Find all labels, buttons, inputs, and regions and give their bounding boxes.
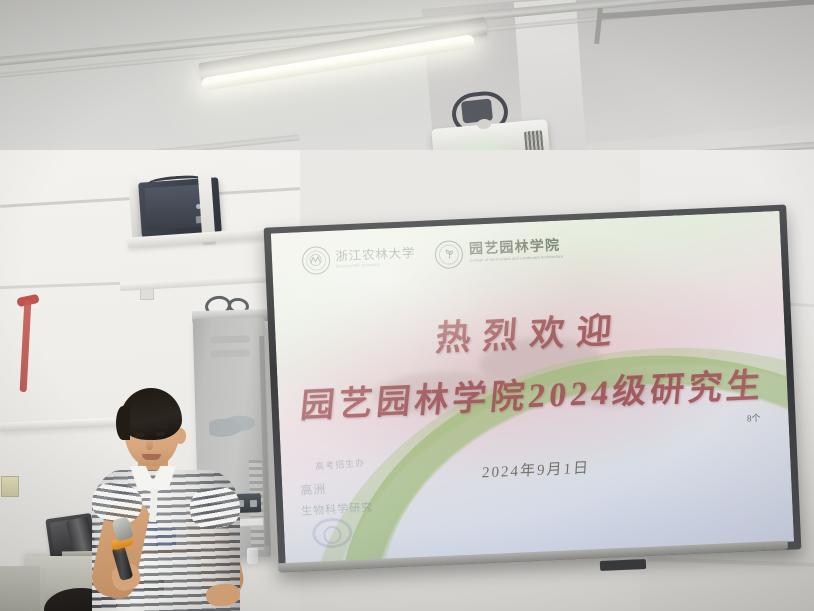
ghost-mark: 高洲 <box>300 480 327 499</box>
ghost-stamp-icon <box>312 517 353 549</box>
mouth <box>142 454 161 460</box>
wall-socket-icon <box>1 476 19 497</box>
screen-mount-foot <box>600 559 646 571</box>
slide-corner-mark: 8个 <box>747 410 761 424</box>
cabinet-slot <box>210 335 250 343</box>
eye <box>156 432 165 436</box>
whiteboard-ghost-marks: 高考招生办 高洲 生物科学研究 <box>296 452 432 544</box>
eye <box>135 433 144 437</box>
foreground-desk <box>0 566 40 611</box>
hair-side <box>116 406 130 440</box>
slide-surface: 浙江农林大学 Zhejiang A&F University 园艺园林学院 <box>271 211 794 564</box>
cabinet-button[interactable] <box>250 500 257 507</box>
screen-glare <box>271 211 604 400</box>
photo-scene: 浙江农林大学 Zhejiang A&F University 园艺园林学院 <box>0 0 814 611</box>
glass-cup[interactable] <box>247 548 258 564</box>
ghost-mark: 生物科学研究 <box>301 498 374 518</box>
ghost-mark: 高考招生办 <box>315 455 366 472</box>
speaker <box>86 388 246 611</box>
cabinet-slot <box>210 349 250 357</box>
nose <box>146 438 153 450</box>
presentation-screen[interactable]: 浙江农林大学 Zhejiang A&F University 园艺园林学院 <box>264 205 802 573</box>
